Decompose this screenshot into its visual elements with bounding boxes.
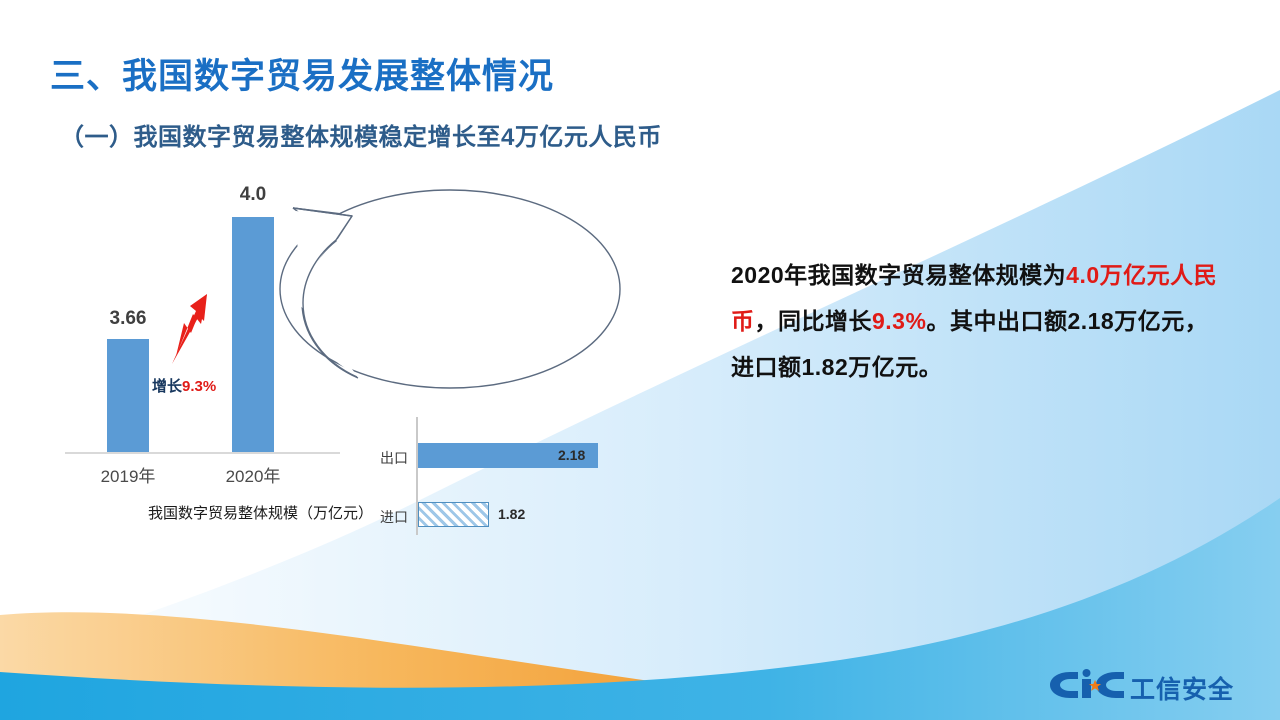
hbar-category-export: 出口	[362, 448, 408, 468]
callout-outline	[240, 185, 680, 405]
growth-label: 增长9.3%	[152, 375, 216, 396]
growth-word: 增长	[152, 378, 182, 395]
logo-text: 工信安全	[1130, 670, 1234, 706]
chart-caption: 我国数字贸易整体规模（万亿元）	[148, 502, 373, 523]
logo: 工信安全	[1048, 668, 1248, 708]
hbar-value-import: 1.82	[498, 506, 525, 522]
slide-subtitle: （一）我国数字贸易整体规模稳定增长至4万亿元人民币	[60, 117, 662, 152]
cic-logo-icon	[1048, 668, 1128, 702]
bar-category-2020: 2020年	[203, 462, 303, 487]
bar-value-2019: 3.66	[88, 308, 168, 330]
summary-line1: 2020年我国数字贸易整体规模为	[731, 262, 1066, 288]
callout-bubble: 出口 进口 2.18 1.82	[240, 185, 680, 405]
hbar-value-export: 2.18	[558, 447, 585, 463]
hbar-import	[418, 502, 489, 527]
summary-line2: ，同比增长	[755, 308, 873, 334]
decor-orange-wave	[0, 612, 700, 706]
summary-highlight-growth: 9.3%	[872, 308, 926, 334]
growth-percent: 9.3%	[182, 378, 216, 395]
bar-category-2019: 2019年	[78, 462, 178, 487]
slide-title: 三、我国数字贸易发展整体情况	[50, 48, 554, 99]
chart-axis-line	[65, 452, 340, 454]
up-arrow-icon	[160, 292, 220, 372]
bar-2019	[107, 339, 149, 452]
summary-text: 2020年我国数字贸易整体规模为4.0万亿元人民币，同比增长9.3%。其中出口额…	[731, 252, 1221, 390]
